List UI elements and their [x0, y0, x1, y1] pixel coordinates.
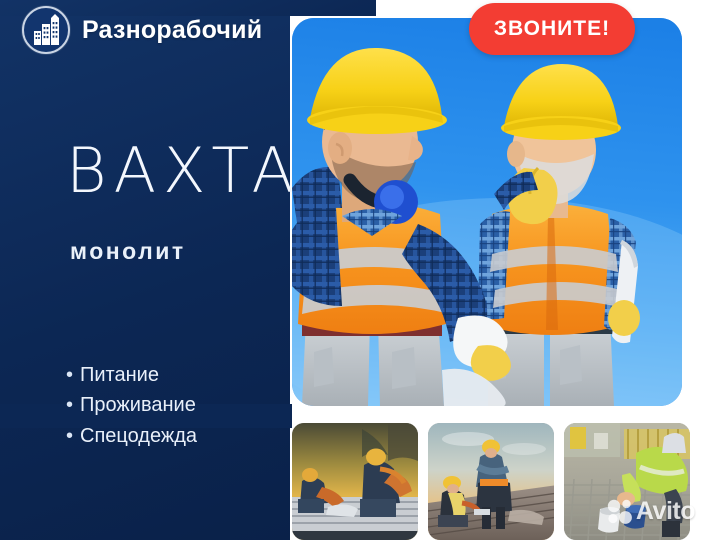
left-info-panel — [0, 0, 290, 540]
feature-label: Питание — [80, 364, 159, 386]
bullet-icon: • — [66, 360, 80, 390]
thumbnail-1[interactable] — [292, 423, 418, 540]
call-cta-badge[interactable]: ЗВОНИТЕ! — [469, 3, 635, 55]
buildings-circle-icon — [22, 6, 70, 54]
advertisement-poster: Разнорабочий BAXTA монолит •Питание •Про… — [0, 0, 701, 540]
list-item: •Проживание — [66, 390, 197, 420]
list-item: •Спецодежда — [66, 421, 197, 451]
brand-name: Разнорабочий — [82, 16, 262, 45]
feature-label: Спецодежда — [80, 425, 197, 447]
brand-header: Разнорабочий — [22, 6, 262, 54]
bullet-icon: • — [66, 421, 80, 451]
list-item: •Питание — [66, 360, 197, 390]
page-subtitle: монолит — [70, 238, 186, 265]
hero-photo — [292, 18, 682, 406]
thumbnail-2[interactable] — [428, 423, 554, 540]
feature-label: Проживание — [80, 394, 196, 416]
thumbnail-3[interactable] — [564, 423, 690, 540]
bullet-icon: • — [66, 390, 80, 420]
page-title: BAXTA — [66, 140, 301, 202]
thumbnail-strip — [292, 423, 690, 540]
feature-list: •Питание •Проживание •Спецодежда — [66, 360, 197, 451]
